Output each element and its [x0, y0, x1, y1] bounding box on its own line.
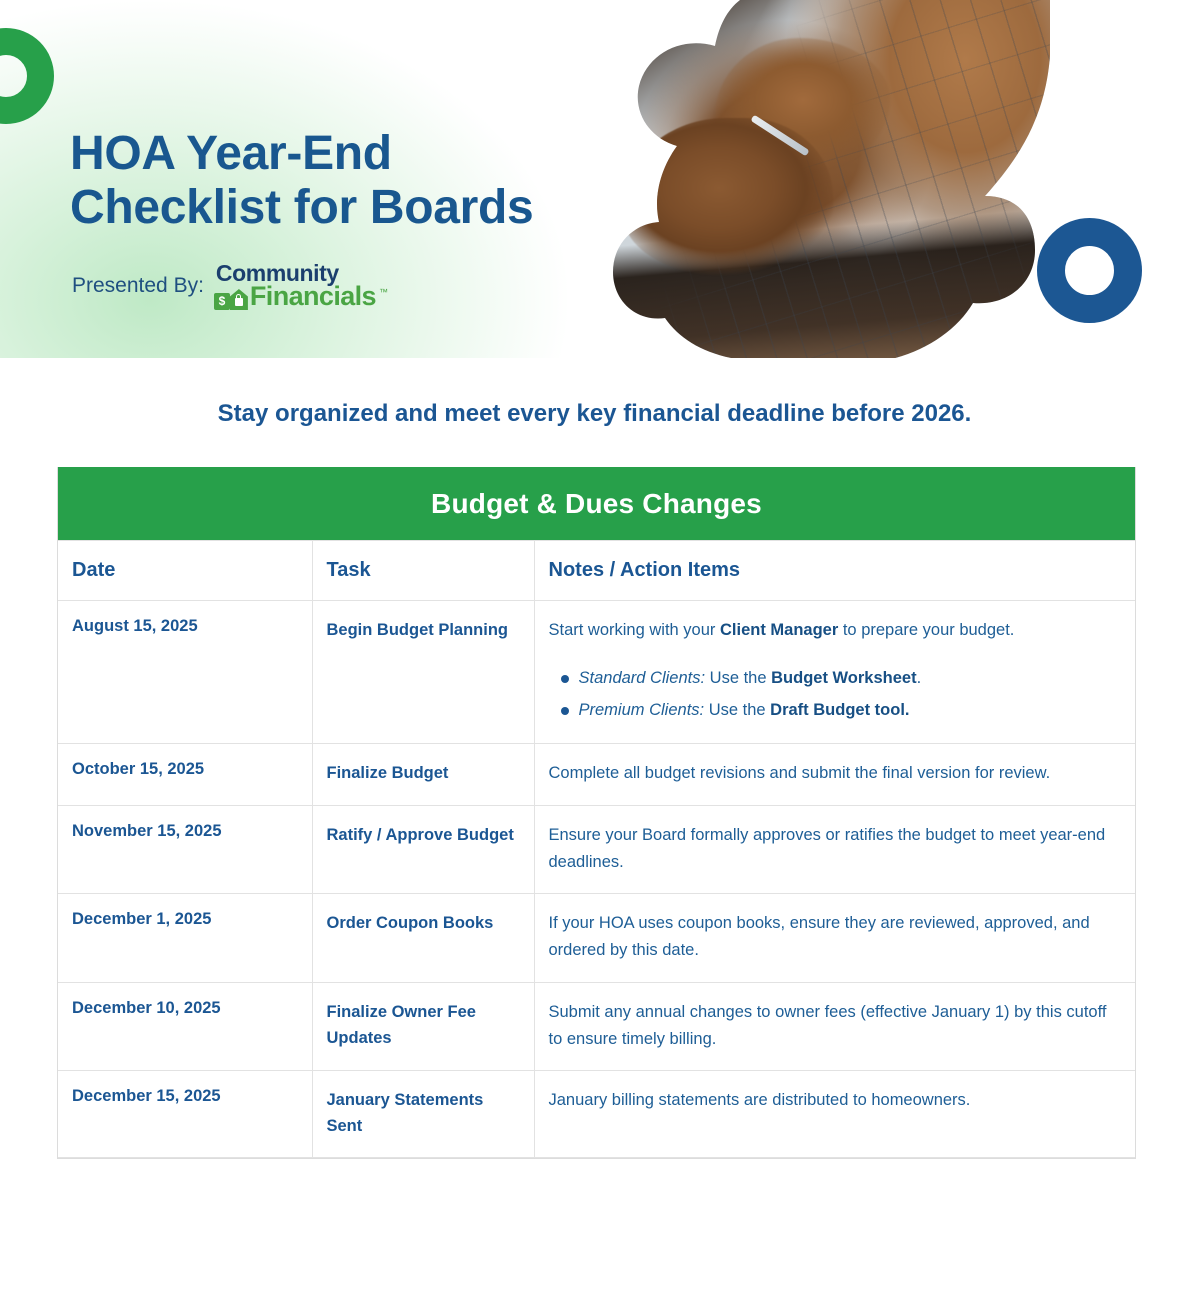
notes-text-a: Start working with your	[549, 621, 720, 639]
row-task: Finalize Budget	[312, 744, 534, 806]
house-icon	[230, 289, 248, 310]
row-task: January Statements Sent	[312, 1071, 534, 1158]
checklist-infographic-page: HOA Year-End Checklist for Boards Presen…	[0, 0, 1189, 1306]
bullet-mid: Use the	[704, 701, 770, 719]
hero-banner: HOA Year-End Checklist for Boards Presen…	[0, 0, 1189, 358]
table-row: November 15, 2025 Ratify / Approve Budge…	[58, 805, 1135, 893]
notes-text-c: to prepare your budget.	[838, 621, 1014, 639]
notes-bullet-list: Standard Clients: Use the Budget Workshe…	[549, 666, 1120, 724]
checklist-table-container: Budget & Dues Changes Date Task Notes / …	[57, 467, 1136, 1159]
bullet-strong: Draft Budget tool.	[770, 701, 909, 719]
row-notes: Submit any annual changes to owner fees …	[534, 982, 1135, 1070]
table-header-row: Date Task Notes / Action Items	[58, 541, 1135, 601]
row-date: December 1, 2025	[58, 894, 312, 982]
table-row: December 15, 2025 January Statements Sen…	[58, 1071, 1135, 1158]
bullet-emphasis: Standard Clients:	[579, 669, 706, 687]
table-row: October 15, 2025 Finalize Budget Complet…	[58, 744, 1135, 806]
bullet-emphasis: Premium Clients:	[579, 701, 705, 719]
presented-by-block: Presented By: Community $ Financials ™	[72, 262, 388, 310]
bullet-strong: Budget Worksheet	[771, 669, 916, 687]
table-section-banner: Budget & Dues Changes	[58, 467, 1135, 540]
row-task: Begin Budget Planning	[312, 601, 534, 744]
table-row: December 10, 2025 Finalize Owner Fee Upd…	[58, 982, 1135, 1070]
row-date: December 10, 2025	[58, 982, 312, 1070]
table-header: Date Task Notes / Action Items	[58, 541, 1135, 601]
column-header-date: Date	[58, 541, 312, 601]
row-date: December 15, 2025	[58, 1071, 312, 1158]
row-date: August 15, 2025	[58, 601, 312, 744]
house-lock-coin-icon: $	[214, 289, 248, 310]
page-title-line-2: Checklist for Boards	[70, 181, 670, 235]
logo-second-line: $ Financials ™	[214, 284, 388, 310]
notes-strong-client-manager: Client Manager	[720, 621, 838, 639]
row-task: Order Coupon Books	[312, 894, 534, 982]
row-notes: Start working with your Client Manager t…	[534, 601, 1135, 744]
dollar-sign: $	[214, 293, 230, 310]
row-task: Finalize Owner Fee Updates	[312, 982, 534, 1070]
row-notes: January billing statements are distribut…	[534, 1071, 1135, 1158]
table-body: August 15, 2025 Begin Budget Planning St…	[58, 601, 1135, 1158]
notes-intro: Start working with your Client Manager t…	[549, 621, 1015, 639]
page-title-line-1: HOA Year-End	[70, 127, 392, 180]
presented-by-label: Presented By:	[72, 274, 204, 298]
bullet-tail: .	[917, 669, 922, 687]
column-header-notes: Notes / Action Items	[534, 541, 1135, 601]
table-row: December 1, 2025 Order Coupon Books If y…	[58, 894, 1135, 982]
row-notes: If your HOA uses coupon books, ensure th…	[534, 894, 1135, 982]
row-notes: Ensure your Board formally approves or r…	[534, 805, 1135, 893]
checklist-table: Date Task Notes / Action Items August 15…	[58, 540, 1135, 1158]
dollar-coin-icon: $	[214, 293, 230, 310]
blue-ring-decoration-icon	[1037, 218, 1142, 323]
row-notes: Complete all budget revisions and submit…	[534, 744, 1135, 806]
page-subtitle: Stay organized and meet every key financ…	[0, 400, 1189, 428]
list-item: Premium Clients: Use the Draft Budget to…	[579, 698, 1120, 723]
column-header-task: Task	[312, 541, 534, 601]
lock-icon-body	[235, 298, 243, 306]
bullet-mid: Use the	[705, 669, 771, 687]
page-title: HOA Year-End Checklist for Boards	[70, 127, 670, 235]
row-date: October 15, 2025	[58, 744, 312, 806]
table-row: August 15, 2025 Begin Budget Planning St…	[58, 601, 1135, 744]
row-date: November 15, 2025	[58, 805, 312, 893]
community-financials-logo: Community $ Financials ™	[214, 262, 388, 310]
row-task: Ratify / Approve Budget	[312, 805, 534, 893]
logo-word-financials: Financials	[250, 284, 376, 310]
logo-trademark-symbol: ™	[379, 288, 388, 297]
list-item: Standard Clients: Use the Budget Workshe…	[579, 666, 1120, 691]
